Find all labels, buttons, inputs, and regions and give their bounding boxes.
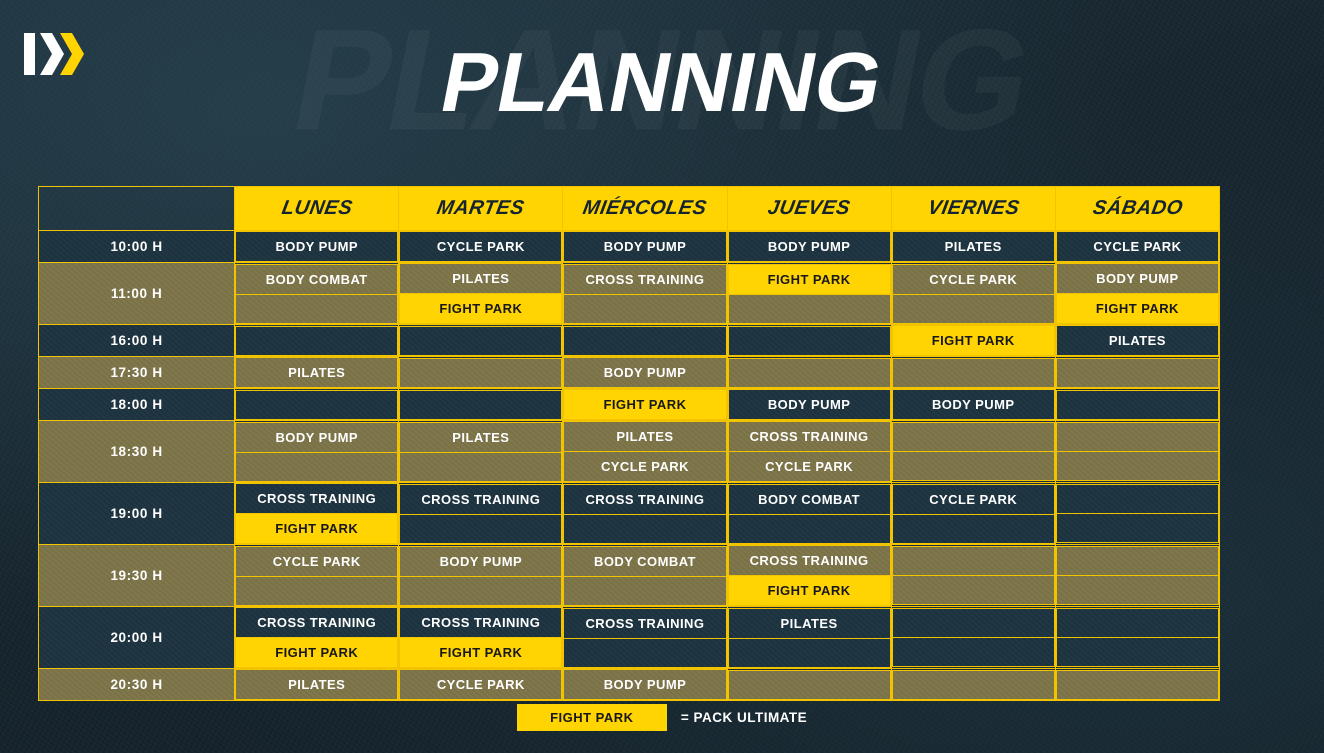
day-header-label: MIÉRCOLES bbox=[581, 197, 708, 220]
schedule-cell bbox=[727, 669, 891, 701]
class-slot bbox=[400, 358, 562, 387]
class-slot[interactable]: CROSS TRAINING bbox=[564, 264, 726, 294]
class-slot[interactable]: PILATES bbox=[892, 232, 1054, 262]
schedule-row: 20:30 HPILATESCYCLE PARKBODY PUMP bbox=[39, 669, 1220, 701]
legend-fight-park-chip: FIGHT PARK bbox=[517, 704, 667, 731]
day-header-label: JUEVES bbox=[766, 197, 852, 220]
schedule-cell: CYCLE PARK bbox=[1055, 231, 1219, 263]
class-slot bbox=[1056, 390, 1218, 419]
schedule-row: 16:00 HFIGHT PARKPILATES bbox=[39, 325, 1220, 357]
class-slot[interactable]: PILATES bbox=[1056, 326, 1218, 356]
class-slot bbox=[892, 576, 1054, 605]
schedule-cell bbox=[891, 545, 1055, 607]
class-slot[interactable]: BODY PUMP bbox=[1056, 264, 1218, 294]
schedule-row: 20:00 HCROSS TRAININGFIGHT PARKCROSS TRA… bbox=[39, 607, 1220, 669]
schedule-row: 19:00 HCROSS TRAININGFIGHT PARKCROSS TRA… bbox=[39, 483, 1220, 545]
class-slot bbox=[892, 514, 1054, 543]
schedule-row: 11:00 HBODY COMBATPILATESFIGHT PARKCROSS… bbox=[39, 263, 1220, 325]
class-slot[interactable]: BODY PUMP bbox=[728, 232, 890, 262]
class-slot-fight-park[interactable]: FIGHT PARK bbox=[400, 294, 562, 324]
class-slot[interactable]: BODY PUMP bbox=[564, 358, 726, 388]
schedule-cell: PILATES bbox=[235, 357, 399, 389]
class-slot[interactable]: CROSS TRAINING bbox=[400, 608, 562, 638]
class-slot[interactable]: CYCLE PARK bbox=[236, 546, 398, 576]
class-slot bbox=[892, 609, 1054, 638]
schedule-cell: CYCLE PARK bbox=[399, 231, 563, 263]
time-label: 20:30 H bbox=[39, 669, 235, 701]
class-slot bbox=[728, 638, 890, 667]
schedule-cell: BODY PUMP bbox=[563, 231, 727, 263]
class-slot[interactable]: CYCLE PARK bbox=[1056, 232, 1218, 262]
schedule-cell: BODY PUMP bbox=[727, 231, 891, 263]
class-slot bbox=[236, 452, 398, 481]
class-slot[interactable]: BODY PUMP bbox=[564, 232, 726, 262]
schedule-cell: BODY COMBAT bbox=[563, 545, 727, 607]
schedule-cell: CROSS TRAINING bbox=[563, 607, 727, 669]
class-slot bbox=[236, 576, 398, 605]
class-slot[interactable]: CYCLE PARK bbox=[400, 232, 562, 262]
schedule-cell bbox=[891, 421, 1055, 483]
schedule-cell: CROSS TRAININGFIGHT PARK bbox=[235, 483, 399, 545]
day-header-label: MARTES bbox=[435, 197, 526, 220]
schedule-cell: PILATES bbox=[891, 231, 1055, 263]
class-slot-fight-park[interactable]: FIGHT PARK bbox=[236, 514, 398, 544]
time-label: 19:30 H bbox=[39, 545, 235, 607]
schedule-cell bbox=[563, 325, 727, 357]
class-slot bbox=[400, 326, 562, 355]
schedule-cell bbox=[1055, 483, 1219, 545]
class-slot-fight-park[interactable]: FIGHT PARK bbox=[728, 576, 890, 606]
class-slot bbox=[236, 390, 398, 419]
class-slot bbox=[1056, 609, 1218, 638]
class-slot[interactable]: CYCLE PARK bbox=[564, 452, 726, 482]
schedule-cell: BODY PUMP bbox=[727, 389, 891, 421]
class-slot bbox=[1056, 638, 1218, 667]
schedule-cell: BODY PUMP bbox=[235, 421, 399, 483]
class-slot[interactable]: BODY PUMP bbox=[236, 232, 398, 262]
class-slot[interactable]: BODY PUMP bbox=[728, 390, 890, 420]
class-slot bbox=[400, 576, 562, 605]
schedule-cell bbox=[399, 357, 563, 389]
schedule-row: 19:30 HCYCLE PARKBODY PUMPBODY COMBATCRO… bbox=[39, 545, 1220, 607]
class-slot bbox=[892, 638, 1054, 667]
schedule-cell: PILATES bbox=[399, 421, 563, 483]
class-slot[interactable]: CROSS TRAINING bbox=[400, 484, 562, 514]
schedule-header-row: LUNESMARTESMIÉRCOLESJUEVESVIERNESSÁBADO bbox=[39, 187, 1220, 231]
class-slot[interactable]: CYCLE PARK bbox=[400, 670, 562, 700]
day-header-sbado[interactable]: SÁBADO bbox=[1055, 187, 1219, 231]
class-slot bbox=[400, 514, 562, 543]
class-slot[interactable]: CROSS TRAINING bbox=[236, 484, 398, 514]
class-slot[interactable]: CROSS TRAINING bbox=[728, 546, 890, 576]
class-slot bbox=[564, 294, 726, 323]
class-slot bbox=[1056, 547, 1218, 576]
class-slot bbox=[1056, 423, 1218, 452]
class-slot bbox=[728, 514, 890, 543]
schedule-cell bbox=[891, 357, 1055, 389]
schedule-cell: FIGHT PARK bbox=[727, 263, 891, 325]
class-slot-fight-park[interactable]: FIGHT PARK bbox=[892, 326, 1054, 356]
class-slot[interactable]: CROSS TRAINING bbox=[564, 484, 726, 514]
class-slot-fight-park[interactable]: FIGHT PARK bbox=[1056, 294, 1218, 324]
schedule-cell bbox=[399, 325, 563, 357]
header-spacer bbox=[39, 187, 235, 231]
class-slot[interactable]: PILATES bbox=[400, 264, 562, 294]
class-slot bbox=[892, 358, 1054, 387]
day-header-jueves[interactable]: JUEVES bbox=[727, 187, 891, 231]
schedule-cell bbox=[235, 389, 399, 421]
class-slot[interactable]: BODY PUMP bbox=[236, 422, 398, 452]
schedule-cell: CROSS TRAINING bbox=[399, 483, 563, 545]
schedule-cell: BODY COMBAT bbox=[235, 263, 399, 325]
schedule-cell: CROSS TRAININGCYCLE PARK bbox=[727, 421, 891, 483]
schedule-cell: CYCLE PARK bbox=[399, 669, 563, 701]
time-label: 17:30 H bbox=[39, 357, 235, 389]
schedule-cell bbox=[727, 357, 891, 389]
time-label: 16:00 H bbox=[39, 325, 235, 357]
class-slot bbox=[564, 326, 726, 355]
page-title: PLANNING bbox=[434, 38, 890, 126]
class-slot[interactable]: CYCLE PARK bbox=[892, 264, 1054, 294]
schedule-row: 10:00 HBODY PUMPCYCLE PARKBODY PUMPBODY … bbox=[39, 231, 1220, 263]
class-slot[interactable]: PILATES bbox=[236, 670, 398, 700]
schedule-cell: CYCLE PARK bbox=[891, 483, 1055, 545]
schedule-cell: PILATESCYCLE PARK bbox=[563, 421, 727, 483]
schedule-cell: BODY COMBAT bbox=[727, 483, 891, 545]
schedule-cell bbox=[399, 389, 563, 421]
class-slot bbox=[892, 547, 1054, 576]
class-slot-fight-park[interactable]: FIGHT PARK bbox=[400, 638, 562, 668]
class-slot[interactable]: BODY COMBAT bbox=[728, 484, 890, 514]
class-slot bbox=[1056, 670, 1218, 699]
schedule-cell: CROSS TRAINING bbox=[563, 263, 727, 325]
class-slot bbox=[728, 670, 890, 699]
schedule-cell bbox=[1055, 389, 1219, 421]
time-label: 20:00 H bbox=[39, 607, 235, 669]
schedule-table: LUNESMARTESMIÉRCOLESJUEVESVIERNESSÁBADO … bbox=[38, 186, 1220, 701]
class-slot[interactable]: BODY PUMP bbox=[564, 670, 726, 700]
legend: FIGHT PARK = PACK ULTIMATE bbox=[0, 704, 1324, 731]
class-slot bbox=[236, 294, 398, 323]
day-header-mircoles[interactable]: MIÉRCOLES bbox=[563, 187, 727, 231]
schedule-cell: BODY PUMP bbox=[399, 545, 563, 607]
class-slot[interactable]: BODY PUMP bbox=[892, 390, 1054, 420]
schedule-cell bbox=[235, 325, 399, 357]
day-header-label: VIERNES bbox=[926, 197, 1021, 220]
class-slot[interactable]: BODY COMBAT bbox=[564, 546, 726, 576]
schedule-cell bbox=[1055, 357, 1219, 389]
page-title-area: PLANNING PLANNING bbox=[0, 0, 1324, 180]
class-slot bbox=[1056, 514, 1218, 543]
schedule-row: 18:30 HBODY PUMPPILATESPILATESCYCLE PARK… bbox=[39, 421, 1220, 483]
class-slot bbox=[400, 452, 562, 481]
class-slot[interactable]: PILATES bbox=[564, 422, 726, 452]
class-slot bbox=[728, 294, 890, 323]
class-slot bbox=[564, 638, 726, 667]
class-slot bbox=[236, 326, 398, 355]
class-slot bbox=[1056, 452, 1218, 481]
schedule-cell: FIGHT PARK bbox=[563, 389, 727, 421]
schedule-cell: BODY PUMP bbox=[235, 231, 399, 263]
time-label: 19:00 H bbox=[39, 483, 235, 545]
schedule-cell: FIGHT PARK bbox=[891, 325, 1055, 357]
time-label: 11:00 H bbox=[39, 263, 235, 325]
schedule-cell: CROSS TRAININGFIGHT PARK bbox=[727, 545, 891, 607]
schedule-cell: BODY PUMPFIGHT PARK bbox=[1055, 263, 1219, 325]
class-slot bbox=[892, 423, 1054, 452]
class-slot[interactable]: PILATES bbox=[400, 422, 562, 452]
schedule-row: 17:30 HPILATESBODY PUMP bbox=[39, 357, 1220, 389]
class-slot[interactable]: PILATES bbox=[728, 608, 890, 638]
class-slot[interactable]: CROSS TRAINING bbox=[728, 422, 890, 452]
schedule-cell: CROSS TRAININGFIGHT PARK bbox=[235, 607, 399, 669]
schedule-cell bbox=[1055, 421, 1219, 483]
schedule-cell bbox=[891, 607, 1055, 669]
class-slot-fight-park[interactable]: FIGHT PARK bbox=[236, 638, 398, 668]
schedule-cell bbox=[1055, 545, 1219, 607]
class-slot[interactable]: BODY PUMP bbox=[400, 546, 562, 576]
schedule-cell: BODY PUMP bbox=[563, 669, 727, 701]
class-slot bbox=[400, 390, 562, 419]
day-header-label: LUNES bbox=[280, 197, 354, 220]
class-slot[interactable]: PILATES bbox=[236, 358, 398, 388]
class-slot bbox=[892, 452, 1054, 481]
schedule-cell: PILATES bbox=[235, 669, 399, 701]
day-header-label: SÁBADO bbox=[1091, 197, 1185, 220]
schedule-cell: PILATESFIGHT PARK bbox=[399, 263, 563, 325]
schedule-cell: BODY PUMP bbox=[891, 389, 1055, 421]
class-slot[interactable]: BODY COMBAT bbox=[236, 264, 398, 294]
schedule-cell: PILATES bbox=[1055, 325, 1219, 357]
class-slot[interactable]: CROSS TRAINING bbox=[236, 608, 398, 638]
schedule-cell bbox=[727, 325, 891, 357]
schedule-cell: BODY PUMP bbox=[563, 357, 727, 389]
class-slot[interactable]: CYCLE PARK bbox=[728, 452, 890, 482]
day-header-viernes[interactable]: VIERNES bbox=[891, 187, 1055, 231]
schedule-cell: CYCLE PARK bbox=[235, 545, 399, 607]
schedule-cell: PILATES bbox=[727, 607, 891, 669]
class-slot bbox=[1056, 358, 1218, 387]
time-label: 10:00 H bbox=[39, 231, 235, 263]
time-label: 18:30 H bbox=[39, 421, 235, 483]
class-slot[interactable]: CYCLE PARK bbox=[892, 484, 1054, 514]
class-slot bbox=[1056, 485, 1218, 514]
class-slot bbox=[892, 294, 1054, 323]
schedule-cell bbox=[1055, 669, 1219, 701]
class-slot bbox=[728, 358, 890, 387]
schedule-cell: CROSS TRAININGFIGHT PARK bbox=[399, 607, 563, 669]
class-slot bbox=[564, 576, 726, 605]
schedule-cell: CROSS TRAINING bbox=[563, 483, 727, 545]
schedule-cell bbox=[1055, 607, 1219, 669]
day-header-lunes[interactable]: LUNES bbox=[235, 187, 399, 231]
class-slot-fight-park[interactable]: FIGHT PARK bbox=[728, 264, 890, 294]
class-slot[interactable]: CROSS TRAINING bbox=[564, 608, 726, 638]
legend-description: = PACK ULTIMATE bbox=[681, 710, 807, 725]
schedule-body: 10:00 HBODY PUMPCYCLE PARKBODY PUMPBODY … bbox=[39, 231, 1220, 701]
class-slot bbox=[1056, 576, 1218, 605]
schedule-row: 18:00 HFIGHT PARKBODY PUMPBODY PUMP bbox=[39, 389, 1220, 421]
class-slot bbox=[728, 326, 890, 355]
class-slot-fight-park[interactable]: FIGHT PARK bbox=[564, 390, 726, 420]
time-label: 18:00 H bbox=[39, 389, 235, 421]
class-slot bbox=[892, 670, 1054, 699]
schedule-cell bbox=[891, 669, 1055, 701]
day-header-martes[interactable]: MARTES bbox=[399, 187, 563, 231]
class-slot bbox=[564, 514, 726, 543]
schedule-cell: CYCLE PARK bbox=[891, 263, 1055, 325]
